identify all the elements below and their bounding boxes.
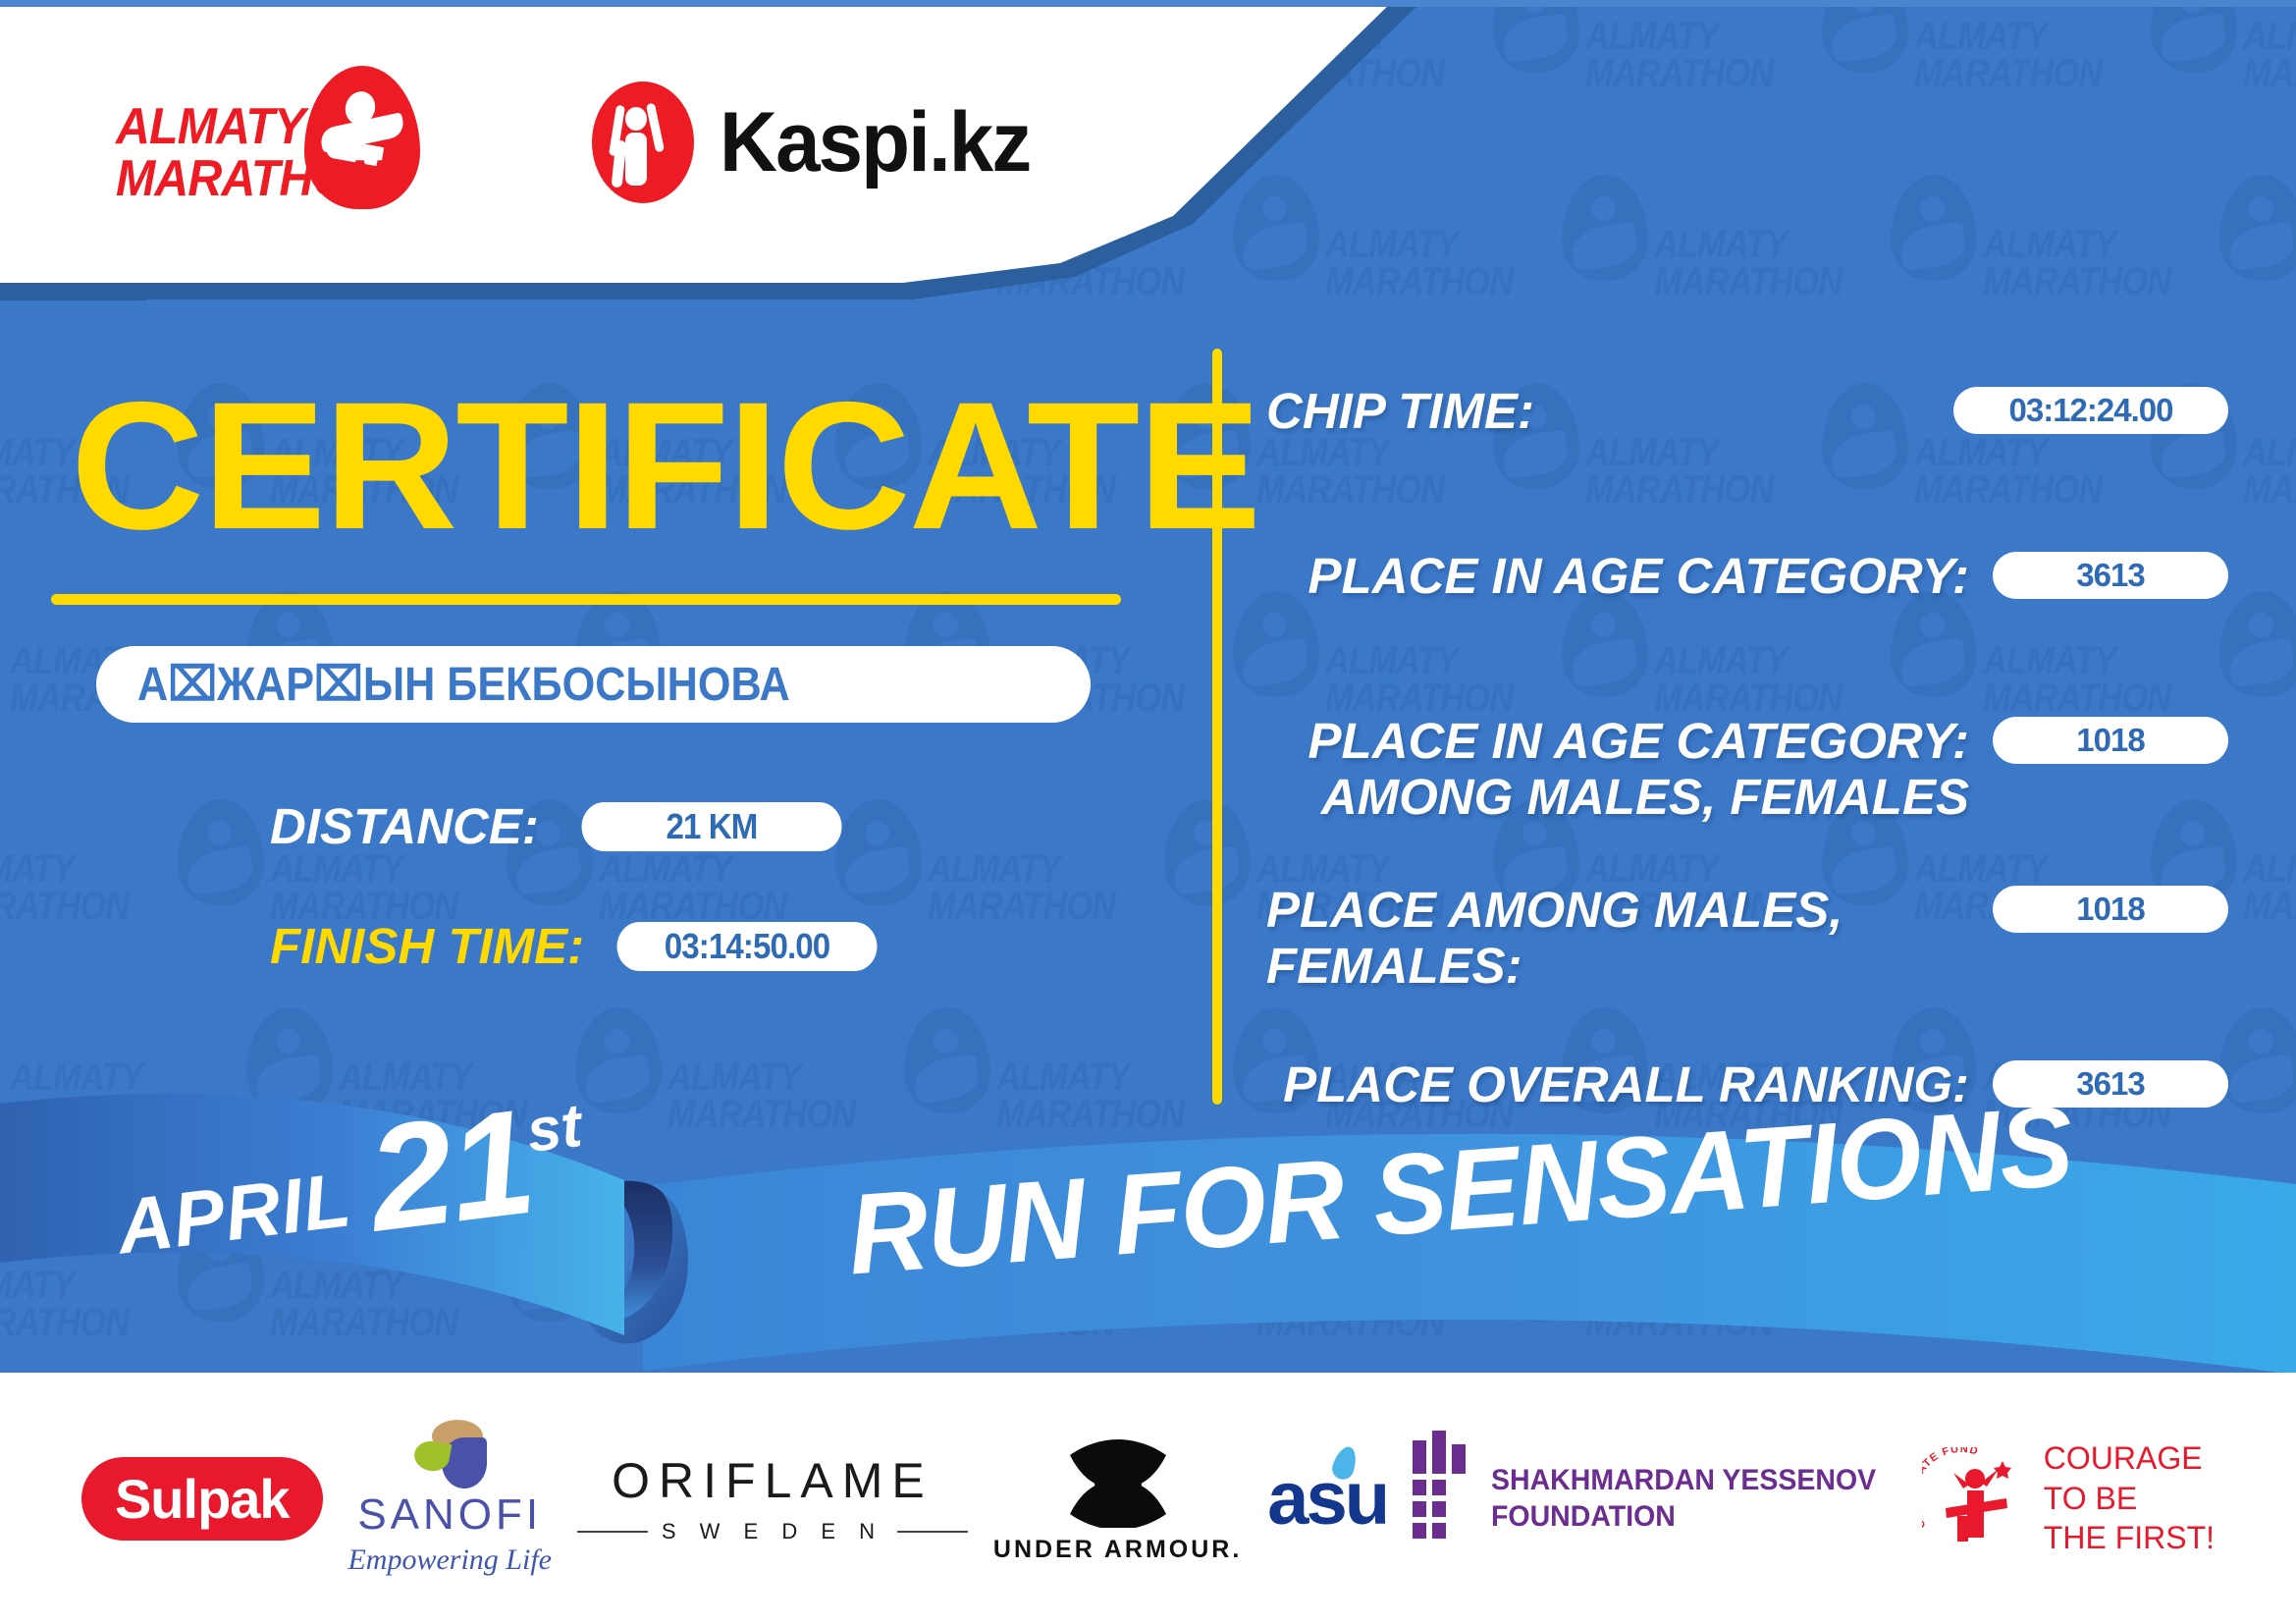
stats-panel: CHIP TIME: 03:12:24.00 PLACE IN AGE CATE… <box>1266 363 2228 1151</box>
almaty-marathon-drop-icon <box>2219 591 2296 697</box>
watermark-tile: ALMATYMARATHON <box>2243 0 2296 167</box>
watermark-tile: ALMATYMARATHON <box>0 793 270 1000</box>
watermark-text: ALMATYMARATHON <box>1654 226 1865 300</box>
watermark-tile: ALMATYMARATHON <box>1914 0 2243 167</box>
event-month: APRIL <box>112 1155 355 1272</box>
almaty-marathon-line1: ALMATY <box>116 101 382 153</box>
place-age-category-value: 3613 <box>1993 552 2228 599</box>
almaty-marathon-drop-icon <box>1822 0 1908 73</box>
place-age-category-among-value: 1018 <box>1993 717 2228 764</box>
chip-time-label: CHIP TIME: <box>1266 383 1953 439</box>
almaty-marathon-drop-icon <box>178 799 264 905</box>
almaty-marathon-line2: MARATHON <box>116 153 382 205</box>
under-armour-wordmark: UNDER ARMOUR. <box>993 1536 1242 1564</box>
watermark-text: ALMATYMARATHON <box>1914 18 2125 92</box>
title-underline <box>51 594 1121 605</box>
stat-row-place-age-category-among: PLACE IN AGE CATEGORY: AMONG MALES, FEMA… <box>1266 713 2228 825</box>
almaty-marathon-drop-icon <box>1562 175 1648 281</box>
courage-logo: CORPORATE FUND COURAGE TO BE THE FIRST! <box>1922 1438 2215 1559</box>
sponsor-courage-to-be-first: CORPORATE FUND COURAGE TO BE THE FIRST! <box>1922 1438 2215 1559</box>
sulpak-logo: Sulpak <box>81 1457 323 1541</box>
sponsor-yessenov-foundation: SHAKHMARDAN YESSENOV FOUNDATION <box>1413 1458 1896 1539</box>
place-age-category-label: PLACE IN AGE CATEGORY: <box>1266 548 1993 604</box>
distance-value: 21 KM <box>581 802 841 851</box>
watermark-tile: ALMATYMARATHON <box>928 793 1256 1000</box>
stat-row-place-among-males-females: PLACE AMONG MALES, FEMALES: 1018 <box>1266 882 2228 994</box>
event-day: 21 <box>361 1087 540 1255</box>
sanofi-tagline: Empowering Life <box>347 1543 552 1577</box>
stat-row-chip-time: CHIP TIME: 03:12:24.00 <box>1266 383 2228 477</box>
watermark-text: ALMATYMARATHON <box>0 850 152 925</box>
finish-time-label: FINISH TIME: <box>270 917 584 975</box>
kaspi-person-oval-icon <box>592 81 694 203</box>
kaspi-wordmark: Kaspi.kz <box>720 94 1030 191</box>
sponsor-oriflame: ORIFLAME S W E D E N <box>577 1452 968 1544</box>
almaty-marathon-logo: ALMATY MARATHON <box>116 64 420 221</box>
top-accent-line <box>0 0 2296 7</box>
watermark-tile: ALMATYMARATHON <box>1983 169 2296 375</box>
sponsor-sanofi: SANOFI Empowering Life <box>347 1420 552 1577</box>
place-among-males-females-label: PLACE AMONG MALES, FEMALES: <box>1266 882 1993 994</box>
almaty-marathon-drop-icon <box>1493 0 1579 73</box>
oriflame-rule-right <box>897 1531 968 1533</box>
distance-row: DISTANCE: 21 KM <box>270 797 853 855</box>
certificate-page: ALMATYMARATHONALMATYMARATHONALMATYMARATH… <box>0 0 2296 1624</box>
stat-row-place-age-category: PLACE IN AGE CATEGORY: 3613 <box>1266 548 2228 642</box>
event-ribbon: APRIL 21 st RUN FOR SENSATIONS <box>0 1090 2296 1414</box>
watermark-tile: ALMATYMARATHON <box>1654 169 1983 375</box>
oriflame-rule-left <box>577 1531 648 1533</box>
event-day-suffix: st <box>523 1091 585 1166</box>
watermark-text: ALMATYMARATHON <box>928 850 1139 925</box>
vertical-divider <box>1212 349 1222 1105</box>
almaty-marathon-logo-text: ALMATY MARATHON <box>116 101 382 205</box>
distance-label: DISTANCE: <box>270 797 539 855</box>
sponsor-asu: asu <box>1267 1456 1387 1542</box>
asu-wordmark: asu <box>1267 1456 1387 1542</box>
oriflame-wordmark: ORIFLAME <box>612 1452 934 1509</box>
almaty-marathon-drop-icon <box>2219 175 2296 281</box>
courage-runner-icon: CORPORATE FUND <box>1922 1447 2028 1549</box>
page-title: CERTIFICATE <box>71 376 1259 558</box>
participant-name-value: А⌧ЖАР⌧ЫН БЕКБОСЫНОВА <box>137 657 790 712</box>
oriflame-sweden-label: S W E D E N <box>662 1519 883 1544</box>
sanofi-wordmark: SANOFI <box>357 1490 542 1540</box>
watermark-text: ALMATYMARATHON <box>270 850 481 925</box>
finish-time-value: 03:14:50.00 <box>617 922 878 971</box>
watermark-text: ALMATYMARATHON <box>1585 18 1796 92</box>
almaty-marathon-drop-icon <box>2151 0 2237 73</box>
watermark-text: ALMATYMARATHON <box>1983 226 2194 300</box>
sponsor-sulpak: Sulpak <box>81 1457 323 1541</box>
oriflame-sub-row: S W E D E N <box>577 1519 968 1544</box>
watermark-text: ALMATYMARATHON <box>2243 18 2296 92</box>
yessenov-logo: SHAKHMARDAN YESSENOV FOUNDATION <box>1413 1458 1896 1539</box>
yessenov-bars-icon <box>1413 1458 1466 1539</box>
header-bar: ALMATY MARATHON Kaspi.kz <box>0 0 1394 285</box>
under-armour-icon <box>1044 1434 1192 1528</box>
almaty-marathon-drop-icon <box>1164 799 1251 905</box>
watermark-tile: ALMATYMARATHON <box>2243 377 2296 583</box>
watermark-text: ALMATYMARATHON <box>2243 434 2296 509</box>
place-age-category-among-label: PLACE IN AGE CATEGORY: AMONG MALES, FEMA… <box>1266 713 1993 825</box>
participant-name-field: А⌧ЖАР⌧ЫН БЕКБОСЫНОВА <box>96 646 1091 723</box>
watermark-tile: ALMATYMARATHON <box>2243 793 2296 1000</box>
yessenov-wordmark: SHAKHMARDAN YESSENOV FOUNDATION <box>1491 1462 1876 1536</box>
chip-time-value: 03:12:24.00 <box>1953 387 2228 434</box>
almaty-marathon-drop-icon <box>1891 175 1977 281</box>
watermark-text: ALMATYMARATHON <box>2243 850 2296 925</box>
sponsor-under-armour: UNDER ARMOUR. <box>993 1434 1242 1564</box>
sanofi-swirl-icon <box>408 1420 491 1487</box>
place-among-males-females-value: 1018 <box>1993 886 2228 933</box>
asu-wordmark-text: asu <box>1267 1457 1387 1541</box>
courage-slogan: COURAGE TO BE THE FIRST! <box>2044 1438 2215 1559</box>
sponsor-footer: Sulpak SANOFI Empowering Life ORIFLAME S… <box>0 1373 2296 1624</box>
kaspi-logo: Kaspi.kz <box>592 81 1046 203</box>
watermark-tile: ALMATYMARATHON <box>1585 0 1914 167</box>
finish-time-row: FINISH TIME: 03:14:50.00 <box>270 917 888 975</box>
watermark-text: ALMATYMARATHON <box>599 850 810 925</box>
